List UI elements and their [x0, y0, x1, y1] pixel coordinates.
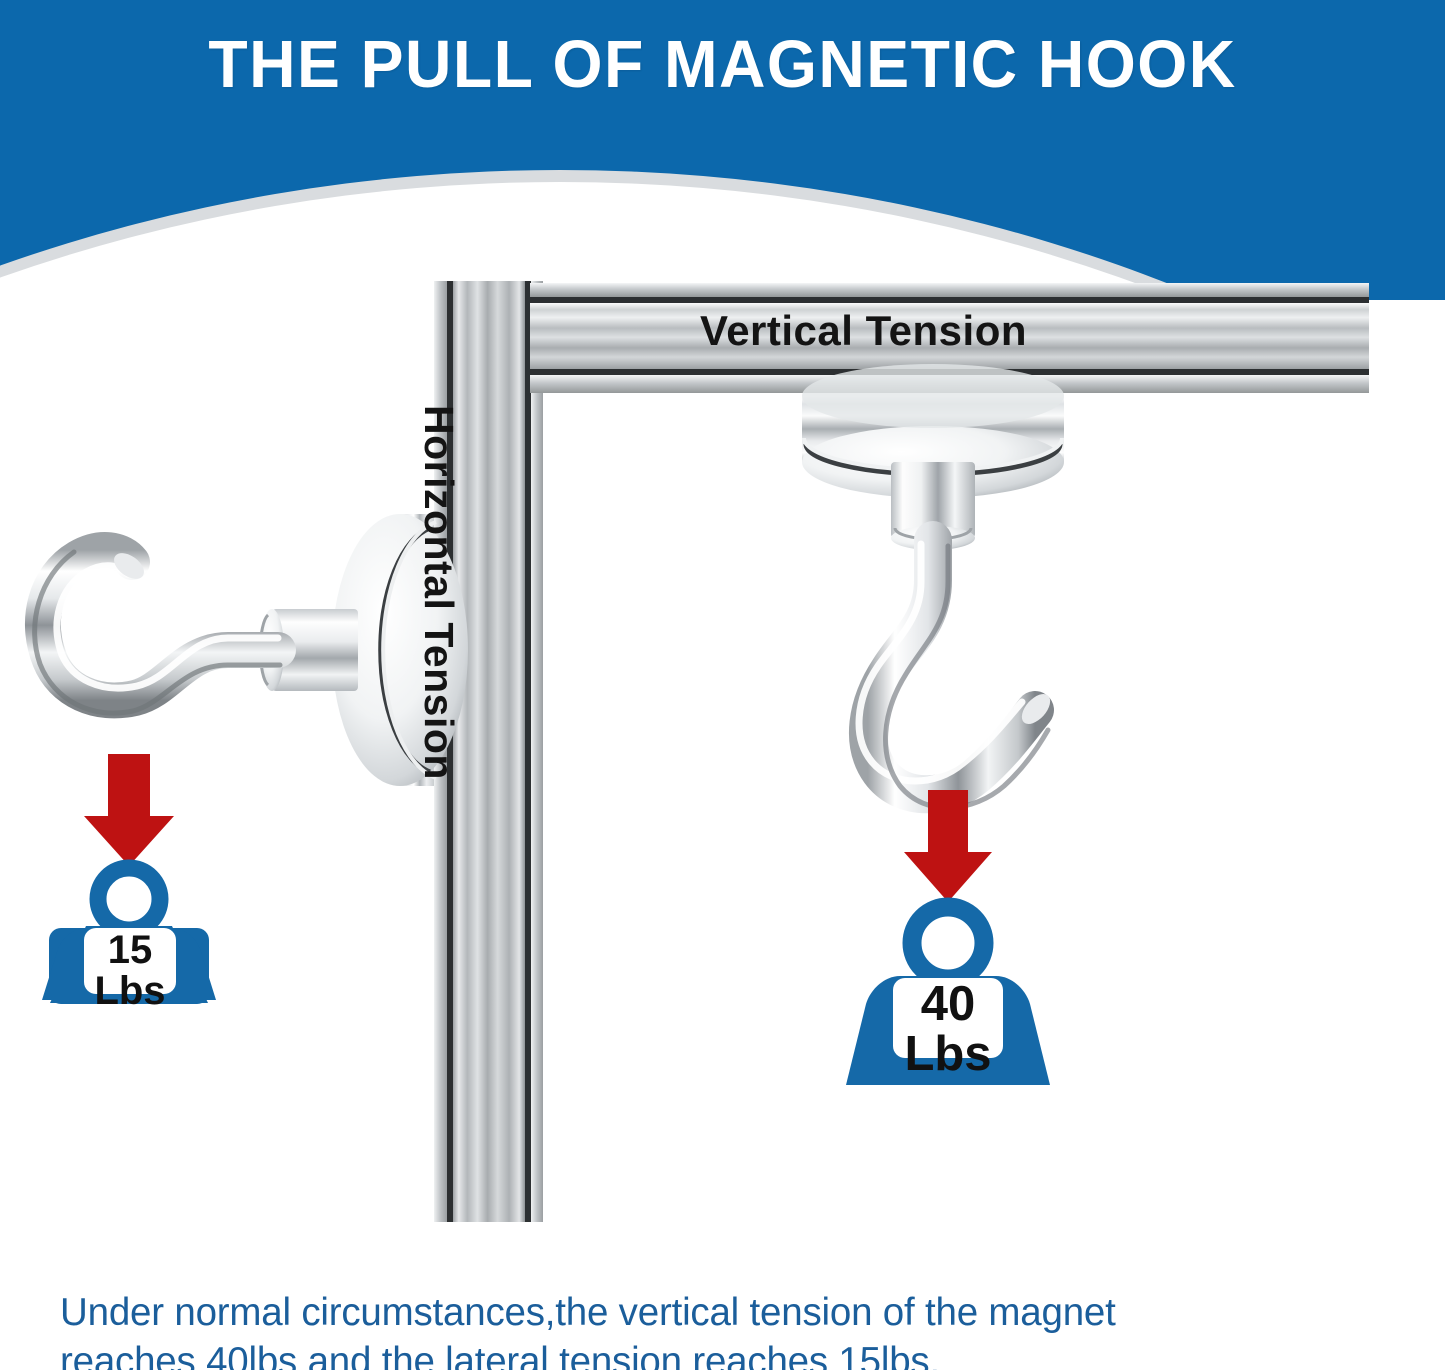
vertical-magnet-hook: [802, 364, 1064, 808]
horizontal-arrow-shape: [84, 754, 174, 866]
hook-rod-highlight: [57, 566, 278, 688]
beam-strip-top: [530, 283, 1369, 297]
footer-caption: Under normal circumstances,the vertical …: [60, 1288, 1400, 1370]
vertical-tension-label: Vertical Tension: [700, 307, 1027, 355]
weight-unit-15: Lbs: [84, 971, 176, 1012]
weight-value-40: 40: [893, 980, 1003, 1030]
ceiling-hook-rod: [868, 540, 1035, 794]
diagram-stage: Vertical Tension Horizontal Tension 15 L…: [0, 0, 1445, 1290]
beam-seam-top: [530, 297, 1369, 303]
horizontal-down-arrow-icon: [84, 754, 174, 866]
ceiling-magnet-top: [802, 364, 1064, 428]
column-seam-right: [525, 281, 531, 1222]
diagram-illustration: [0, 0, 1445, 1290]
caption-line-1: Under normal circumstances,the vertical …: [60, 1288, 1400, 1337]
magnetic-hook-infographic: THE PULL OF MAGNETIC HOOK: [0, 0, 1445, 1370]
weight-label-40: 40 Lbs: [893, 980, 1003, 1080]
vertical-column: [453, 281, 525, 1222]
weight-unit-40: Lbs: [893, 1030, 1003, 1080]
weight-ring-40: [912, 907, 984, 979]
weight-value-15: 15: [84, 930, 176, 971]
caption-line-2: reaches 40lbs and the lateral tension re…: [60, 1337, 1400, 1370]
horizontal-tension-label: Horizontal Tension: [415, 405, 462, 780]
column-edge-strip-right: [531, 281, 543, 1222]
weight-ring-15: [98, 868, 160, 930]
horizontal-magnet-hook: [35, 514, 468, 786]
weight-label-15: 15 Lbs: [84, 930, 176, 1012]
